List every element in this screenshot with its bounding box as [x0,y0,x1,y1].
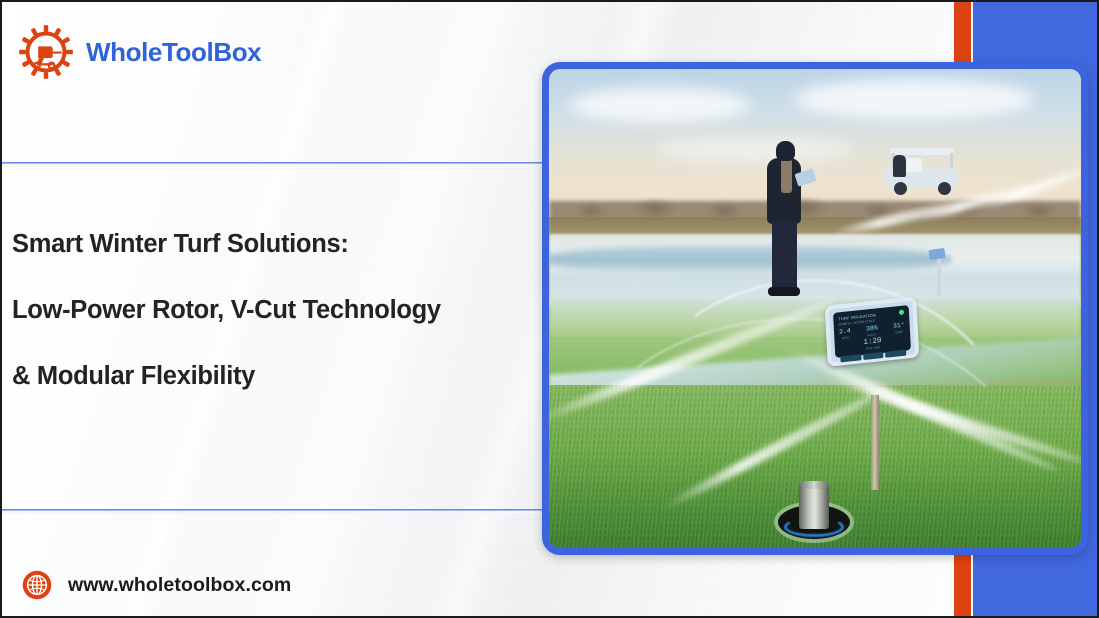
gear-drill-icon [18,24,74,80]
irrigation-control-panel[interactable]: TURF IRRIGATION ZONE 04 - ACTIVE CYCLE 2… [824,297,919,368]
marker-post [937,256,941,296]
metric-label: TEMP [893,329,905,334]
golf-cart [884,148,962,194]
control-panel-post [871,395,879,490]
footer-website[interactable]: www.wholetoolbox.com [22,570,291,600]
water-pond [549,246,953,272]
website-url: www.wholetoolbox.com [68,574,291,597]
marker-plate [928,248,945,260]
page-title: Smart Winter Turf Solutions: Low-Power R… [12,230,552,390]
golf-course-photo: TURF IRRIGATION ZONE 04 - ACTIVE CYCLE 2… [549,69,1081,548]
hero-photo-card: TURF IRRIGATION ZONE 04 - ACTIVE CYCLE 2… [542,62,1088,555]
brand-logo[interactable]: WholeToolBox [18,24,261,80]
headline-line-1: Smart Winter Turf Solutions: [12,230,552,258]
panel-metric: 38% MOIST [866,326,878,338]
globe-icon [22,570,52,600]
brand-name: WholeToolBox [86,37,261,68]
panel-metric: 2.4 GPM [839,329,851,341]
panel-button[interactable] [885,350,906,358]
panel-metric: 31° TEMP [893,323,905,335]
headline-line-2: Low-Power Rotor, V-Cut Technology [12,296,552,324]
control-panel-screen[interactable]: TURF IRRIGATION ZONE 04 - ACTIVE CYCLE 2… [833,305,911,358]
cloud [655,136,855,162]
panel-button[interactable] [862,352,883,360]
headline-line-3: & Modular Flexibility [12,362,552,390]
greenkeeper-with-tablet [762,141,810,299]
panel-button[interactable] [840,355,861,363]
cloud [570,88,750,122]
metric-label: GPM [839,335,851,340]
banner-root: WholeToolBox Smart Winter Turf Solutions… [0,0,1099,618]
cloud [794,79,1034,119]
sprinkler-head [778,481,850,548]
